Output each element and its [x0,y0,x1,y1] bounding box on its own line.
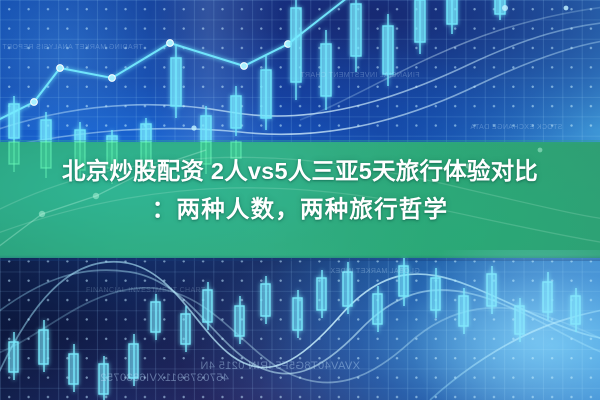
bottom-candlesticks [9,258,580,400]
banner-image: TRADING MARKET ANALYSIS REPORT FINANCIAL… [0,0,600,400]
decor-text-lower-left: FINANCIAL INVESTMENT CHART [86,287,206,294]
page-title: 北京炒股配资 2人vs5人三亚5天旅行体验对比 ：两种人数，两种旅行哲学 [0,152,600,228]
bottom-sine-curves [0,262,600,400]
decor-text-bottom-mid: XVAV40T8G5F5 IRIN 0215 4N [200,360,360,372]
decor-text-mid-right: STOCK EXCHANGE DATA [470,124,562,131]
title-line-2: ：两种人数，两种旅行哲学 [0,190,600,228]
decor-text-top-right: FINANCIAL INVESTMENT CHART [300,72,420,79]
decor-text-bottom-left: 4570378911XVI6830752 [100,372,229,384]
title-line-1: 北京炒股配资 2人vs5人三亚5天旅行体验对比 [0,152,600,190]
decor-text-top-left: TRADING MARKET ANALYSIS REPORT [2,44,143,51]
decor-text-bottom-right: GLOBAL MARKET INDEX [330,268,420,275]
